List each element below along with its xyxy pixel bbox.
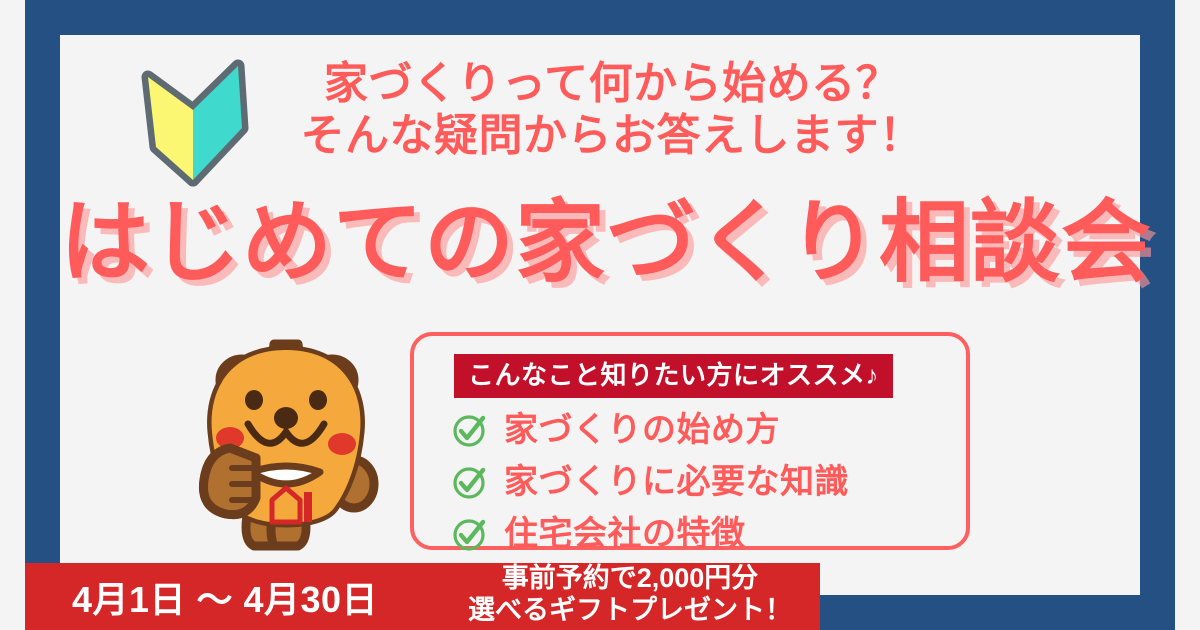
list-item: 家づくりに必要な知識 (450, 456, 956, 508)
gift-offer: 事前予約で2,000円分 選べるギフトプレゼント！ (440, 560, 820, 630)
sub-headline-line-2: そんな疑問からお答えします！ (262, 110, 962, 162)
panel-label: こんなこと知りたい方にオススメ♪ (454, 354, 893, 398)
gift-offer-line-2: 選べるギフトプレゼント！ (468, 595, 792, 627)
sub-headline: 家づくりって何から始める？ そんな疑問からお答えします！ (262, 58, 962, 162)
list-item: 住宅会社の特徴 (450, 508, 956, 560)
frame-right-band (1140, 0, 1175, 630)
recommend-panel: こんなこと知りたい方にオススメ♪ 家づくりの始め方 (410, 332, 970, 550)
frame-left-band (25, 0, 60, 630)
list-item-label: 家づくりの始め方 (504, 413, 780, 447)
check-circle-icon (450, 462, 490, 502)
frame-top-band (25, 0, 1175, 35)
beginner-mark-icon (128, 52, 258, 192)
list-item: 家づくりの始め方 (450, 404, 956, 456)
event-period: 4月1日 ～ 4月30日 (25, 563, 425, 630)
gift-offer-line-1: 事前予約で2,000円分 (502, 563, 759, 595)
recommend-list: 家づくりの始め方 家づくりに必要な知識 住宅 (450, 404, 956, 560)
list-item-label: 住宅会社の特徴 (504, 517, 746, 551)
sub-headline-line-1: 家づくりって何から始める？ (262, 58, 962, 110)
bear-mascot-icon (186, 332, 386, 560)
page-title: はじめての家づくり相談会 (60, 196, 1140, 291)
check-circle-icon (450, 514, 490, 554)
banner-canvas: 家づくりって何から始める？ そんな疑問からお答えします！ はじめての家づくり相談… (0, 0, 1200, 630)
check-circle-icon (450, 410, 490, 450)
list-item-label: 家づくりに必要な知識 (504, 465, 849, 499)
